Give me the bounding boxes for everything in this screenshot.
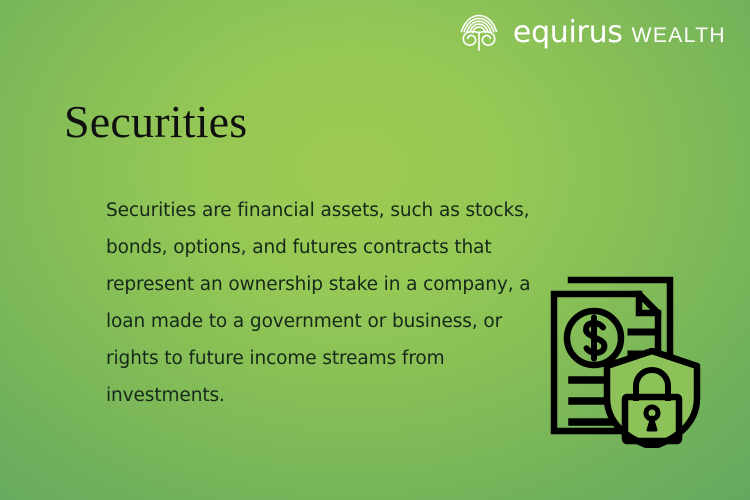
brand-lockup: equirus WEALTH: [456, 8, 726, 58]
page-title: Securities: [64, 96, 247, 149]
secured-financial-document-icon: [545, 258, 710, 448]
brand-subname: WEALTH: [632, 25, 726, 46]
body-paragraph: Securities are financial assets, such as…: [106, 192, 536, 414]
slide-canvas: equirus WEALTH Securities Securities are…: [0, 0, 750, 500]
brand-name: equirus: [513, 18, 623, 48]
equirus-tree-logo-icon: [456, 12, 502, 54]
brand-wordmark: equirus WEALTH: [513, 18, 726, 48]
